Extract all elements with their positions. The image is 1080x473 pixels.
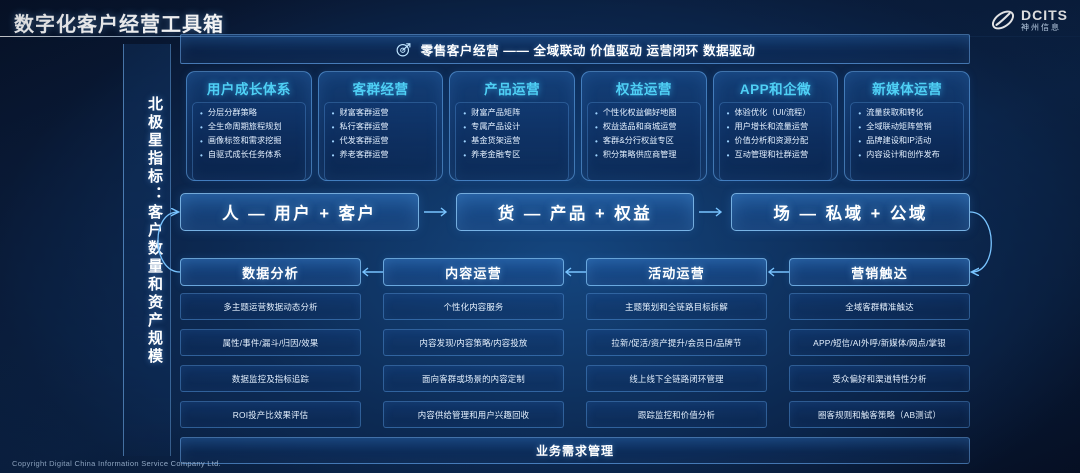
capability-cell[interactable]: 主题策划和全链路目标拆解: [586, 293, 767, 320]
domain-card[interactable]: 产品运营•财富产品矩阵•专属产品设计•基金货架运营•养老金融专区: [449, 71, 575, 181]
capability-cell[interactable]: 内容供给管理和用户兴趣回收: [383, 401, 564, 428]
domain-card-bullet: •互动管理和社群运营: [727, 150, 828, 162]
banner-strip: 零售客户经营 —— 全域联动 价值驱动 运营闭环 数据驱动: [180, 34, 970, 64]
domain-card[interactable]: 客群经营•财富客群运营•私行客群运营•代发客群运营•养老客群运营: [318, 71, 444, 181]
domain-card-bullet: •养老金融专区: [463, 150, 564, 162]
flow-arrow-icon: [698, 205, 728, 219]
logo-text-en: DCITS: [1021, 8, 1068, 22]
capability-cell[interactable]: 跟踪监控和价值分析: [586, 401, 767, 428]
capability-cell[interactable]: 线上线下全链路闭环管理: [586, 365, 767, 392]
bullet-label: 全域联动矩阵营销: [866, 122, 932, 133]
capability-cell[interactable]: 多主题运营数据动态分析: [180, 293, 361, 320]
dcits-swirl-logo-icon: [990, 7, 1016, 33]
capability-cell[interactable]: 属性/事件/漏斗/归因/效果: [180, 329, 361, 356]
bottom-bar: 业务需求管理: [180, 437, 970, 464]
funnel-stage-box[interactable]: 数据分析: [180, 258, 361, 286]
bullet-label: 代发客群运营: [339, 136, 388, 147]
banner-text: 零售客户经营 —— 全域联动 价值驱动 运营闭环 数据驱动: [421, 40, 756, 59]
flow-stage-box[interactable]: 货 — 产品 + 权益: [456, 193, 695, 231]
domain-card-bullet: •客群&分行权益专区: [595, 136, 696, 148]
domain-card-bullet: •财富客群运营: [332, 108, 433, 120]
domain-card-bullet: •全域联动矩阵营销: [858, 122, 959, 134]
flow-stage-box[interactable]: 场 — 私域 + 公域: [731, 193, 970, 231]
capability-cell[interactable]: 全域客群精准触达: [789, 293, 970, 320]
domain-card-bullet: •体验优化（UI/流程）: [727, 108, 828, 120]
capability-cell[interactable]: APP/短信/AI外呼/新媒体/网点/掌银: [789, 329, 970, 356]
bullet-label: 体验优化（UI/流程）: [734, 108, 810, 119]
funnel-stage-box[interactable]: 活动运营: [586, 258, 767, 286]
bullet-label: 权益选品和商城运营: [603, 122, 677, 133]
domain-card[interactable]: APP和企微•体验优化（UI/流程）•用户增长和流量运营•价值分析和资源分配•互…: [713, 71, 839, 181]
domain-card[interactable]: 新媒体运营•流量获取和转化•全域联动矩阵营销•品牌建设和IP活动•内容设计和创作…: [844, 71, 970, 181]
funnel-stage-box[interactable]: 营销触达: [789, 258, 970, 286]
bullet-label: 财富客群运营: [339, 108, 388, 119]
domain-card-title: 产品运营: [455, 78, 569, 98]
bullet-dot-icon: •: [727, 108, 730, 120]
bullet-dot-icon: •: [200, 122, 203, 134]
domain-card-title: 新媒体运营: [850, 78, 964, 98]
bullet-dot-icon: •: [463, 150, 466, 162]
bullet-dot-icon: •: [200, 150, 203, 162]
bullet-label: 价值分析和资源分配: [734, 136, 808, 147]
bullet-dot-icon: •: [858, 150, 861, 162]
domain-card-title: 客群经营: [324, 78, 438, 98]
bottom-bar-label: 业务需求管理: [536, 442, 614, 459]
bullet-dot-icon: •: [595, 108, 598, 120]
target-arrow-icon: [395, 41, 412, 58]
bullet-dot-icon: •: [858, 108, 861, 120]
flow-arrow-icon: [423, 205, 453, 219]
bullet-label: 互动管理和社群运营: [734, 150, 808, 161]
bullet-dot-icon: •: [858, 122, 861, 134]
domain-card-body: •个性化权益偏好地图•权益选品和商城运营•客群&分行权益专区•积分策略供应商管理: [587, 102, 701, 181]
domain-card-bullet: •用户增长和流量运营: [727, 122, 828, 134]
bullet-label: 流量获取和转化: [866, 108, 923, 119]
domain-card-body: •流量获取和转化•全域联动矩阵营销•品牌建设和IP活动•内容设计和创作发布: [850, 102, 964, 181]
domain-card-bullet: •财富产品矩阵: [463, 108, 564, 120]
bullet-label: 内容设计和创作发布: [866, 150, 940, 161]
bullet-dot-icon: •: [332, 150, 335, 162]
domain-card-bullet: •养老客群运营: [332, 150, 433, 162]
bullet-label: 积分策略供应商管理: [603, 150, 677, 161]
bullet-label: 个性化权益偏好地图: [603, 108, 677, 119]
stage-row: 数据分析内容运营活动运营营销触达: [180, 258, 970, 286]
detail-grid: 多主题运营数据动态分析属性/事件/漏斗/归因/效果数据监控及指标追踪ROI投产比…: [180, 293, 970, 428]
domain-card-bullet: •自驱式成长任务体系: [200, 150, 301, 162]
capability-cell[interactable]: ROI投产比效果评估: [180, 401, 361, 428]
bullet-dot-icon: •: [727, 136, 730, 148]
bullet-label: 品牌建设和IP活动: [866, 136, 931, 147]
domain-card-bullet: •权益选品和商城运营: [595, 122, 696, 134]
bullet-dot-icon: •: [332, 122, 335, 134]
bullet-label: 用户增长和流量运营: [734, 122, 808, 133]
domain-card-bullet: •代发客群运营: [332, 136, 433, 148]
domain-card[interactable]: 用户成长体系•分层分群策略•全生命周期旅程规划•画像标签和需求挖掘•自驱式成长任…: [186, 71, 312, 181]
bullet-label: 客群&分行权益专区: [603, 136, 674, 147]
bullet-dot-icon: •: [463, 108, 466, 120]
domain-card-bullet: •基金货架运营: [463, 136, 564, 148]
bullet-label: 分层分群策略: [208, 108, 257, 119]
bullet-label: 财富产品矩阵: [471, 108, 520, 119]
capability-cell[interactable]: 受众偏好和渠道特性分析: [789, 365, 970, 392]
domain-card-bullet: •流量获取和转化: [858, 108, 959, 120]
bullet-dot-icon: •: [595, 122, 598, 134]
bullet-dot-icon: •: [332, 108, 335, 120]
bullet-label: 养老金融专区: [471, 150, 520, 161]
bullet-label: 养老客群运营: [339, 150, 388, 161]
bullet-dot-icon: •: [463, 136, 466, 148]
bullet-dot-icon: •: [727, 122, 730, 134]
domain-card-bullet: •画像标签和需求挖掘: [200, 136, 301, 148]
funnel-stage-box[interactable]: 内容运营: [383, 258, 564, 286]
brand-logo: DCITS 神州信息: [990, 7, 1068, 33]
domain-card-bullet: •价值分析和资源分配: [727, 136, 828, 148]
bullet-dot-icon: •: [858, 136, 861, 148]
bullet-dot-icon: •: [200, 136, 203, 148]
copyright-text: Copyright Digital China Information Serv…: [12, 459, 221, 468]
domain-card-bullet: •品牌建设和IP活动: [858, 136, 959, 148]
domain-card-bullet: •全生命周期旅程规划: [200, 122, 301, 134]
bullet-label: 专属产品设计: [471, 122, 520, 133]
domain-card-body: •体验优化（UI/流程）•用户增长和流量运营•价值分析和资源分配•互动管理和社群…: [719, 102, 833, 181]
logo-text-cn: 神州信息: [1021, 24, 1068, 32]
north-star-label: 北极星指标：客户数量和资产规模: [132, 96, 162, 366]
capability-cell[interactable]: 数据监控及指标追踪: [180, 365, 361, 392]
domain-card-body: •财富客群运营•私行客群运营•代发客群运营•养老客群运营: [324, 102, 438, 181]
bullet-dot-icon: •: [595, 150, 598, 162]
domain-card-bullet: •私行客群运营: [332, 122, 433, 134]
domain-card-bullet: •分层分群策略: [200, 108, 301, 120]
bullet-label: 私行客群运营: [339, 122, 388, 133]
bullet-dot-icon: •: [332, 136, 335, 148]
domain-card-row: 用户成长体系•分层分群策略•全生命周期旅程规划•画像标签和需求挖掘•自驱式成长任…: [186, 71, 970, 181]
domain-card-bullet: •专属产品设计: [463, 122, 564, 134]
capability-cell[interactable]: 面向客群或场景的内容定制: [383, 365, 564, 392]
funnel-arrow-left-icon: [564, 265, 588, 279]
bullet-label: 全生命周期旅程规划: [208, 122, 282, 133]
bullet-label: 画像标签和需求挖掘: [208, 136, 282, 147]
capability-cell[interactable]: 圈客规则和触客策略（AB测试）: [789, 401, 970, 428]
bullet-label: 自驱式成长任务体系: [208, 150, 282, 161]
domain-card-title: APP和企微: [719, 78, 833, 98]
bullet-dot-icon: •: [463, 122, 466, 134]
capability-cell[interactable]: 拉新/促活/资产提升/会员日/品牌节: [586, 329, 767, 356]
capability-cell[interactable]: 个性化内容服务: [383, 293, 564, 320]
bullet-label: 基金货架运营: [471, 136, 520, 147]
domain-card-body: •财富产品矩阵•专属产品设计•基金货架运营•养老金融专区: [455, 102, 569, 181]
capability-cell[interactable]: 内容发现/内容策略/内容投放: [383, 329, 564, 356]
domain-card-body: •分层分群策略•全生命周期旅程规划•画像标签和需求挖掘•自驱式成长任务体系: [192, 102, 306, 181]
flow-stage-box[interactable]: 人 — 用户 + 客户: [180, 193, 419, 231]
funnel-arrow-left-icon: [361, 265, 385, 279]
domain-card-bullet: •个性化权益偏好地图: [595, 108, 696, 120]
domain-card-bullet: •积分策略供应商管理: [595, 150, 696, 162]
domain-card-bullet: •内容设计和创作发布: [858, 150, 959, 162]
domain-card[interactable]: 权益运营•个性化权益偏好地图•权益选品和商城运营•客群&分行权益专区•积分策略供…: [581, 71, 707, 181]
flow-row: 人 — 用户 + 客户货 — 产品 + 权益场 — 私域 + 公域: [180, 193, 970, 231]
domain-card-title: 权益运营: [587, 78, 701, 98]
bullet-dot-icon: •: [200, 108, 203, 120]
bullet-dot-icon: •: [727, 150, 730, 162]
funnel-arrow-left-icon: [767, 265, 791, 279]
bullet-dot-icon: •: [595, 136, 598, 148]
domain-card-title: 用户成长体系: [192, 78, 306, 98]
